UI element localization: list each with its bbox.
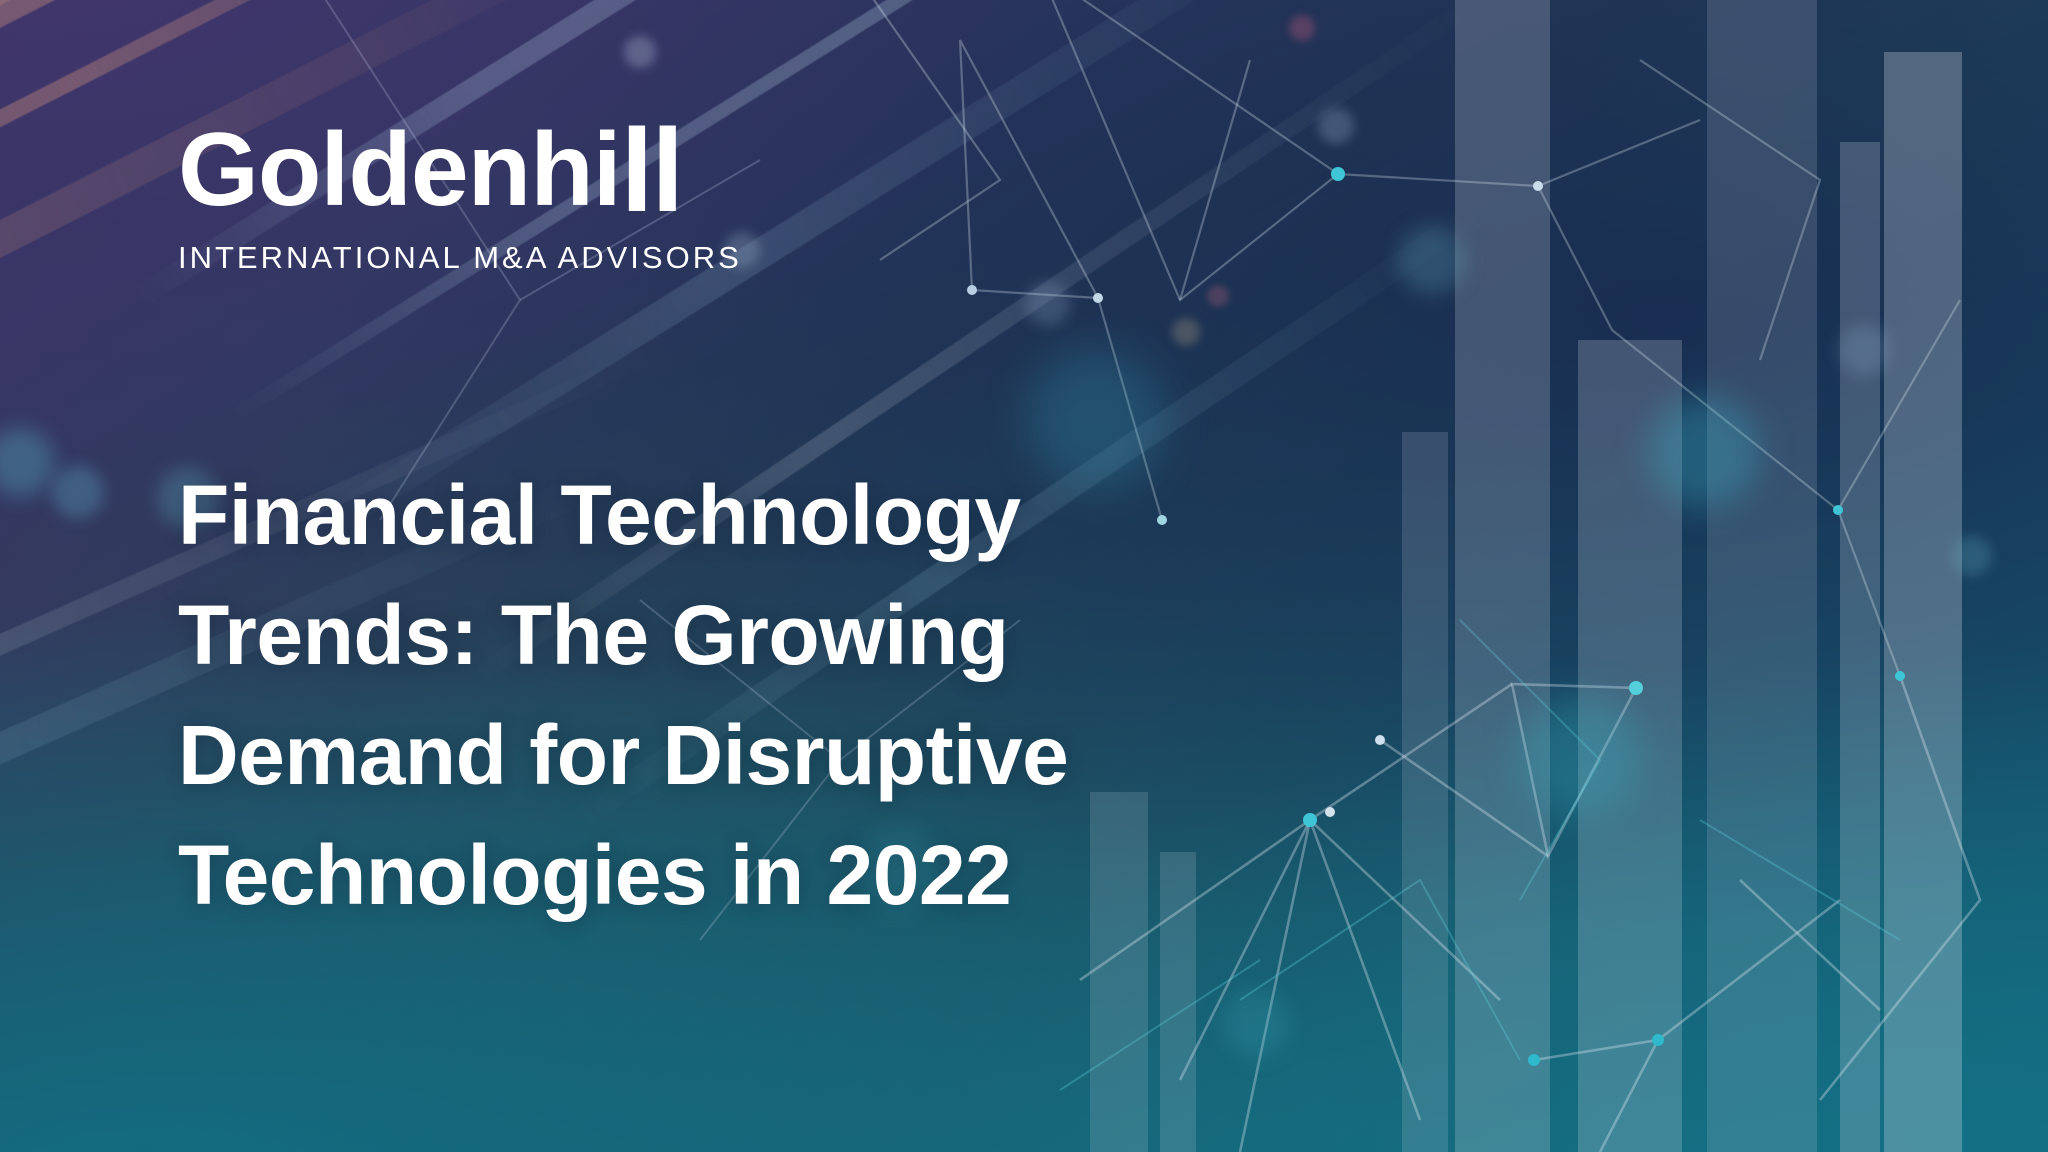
- page-title-line: Financial Technology: [178, 455, 1068, 575]
- banner-canvas: Goldenhill INTERNATIONAL M&A ADVISORS Fi…: [0, 0, 2048, 1152]
- brand-logo[interactable]: Goldenhill INTERNATIONAL M&A ADVISORS: [178, 118, 742, 276]
- brand-wordmark: Goldenhill: [178, 118, 742, 222]
- brand-wordmark-lead: Goldenhi: [178, 112, 621, 228]
- brand-tagline: INTERNATIONAL M&A ADVISORS: [178, 240, 742, 276]
- page-title-line: Demand for Disruptive: [178, 695, 1068, 815]
- brand-wordmark-tail: ll: [621, 105, 683, 237]
- page-title-line: Technologies in 2022: [178, 815, 1068, 935]
- page-title-line: Trends: The Growing: [178, 575, 1068, 695]
- content-layer: Goldenhill INTERNATIONAL M&A ADVISORS Fi…: [0, 0, 2048, 1152]
- page-title: Financial Technology Trends: The Growing…: [178, 455, 1068, 935]
